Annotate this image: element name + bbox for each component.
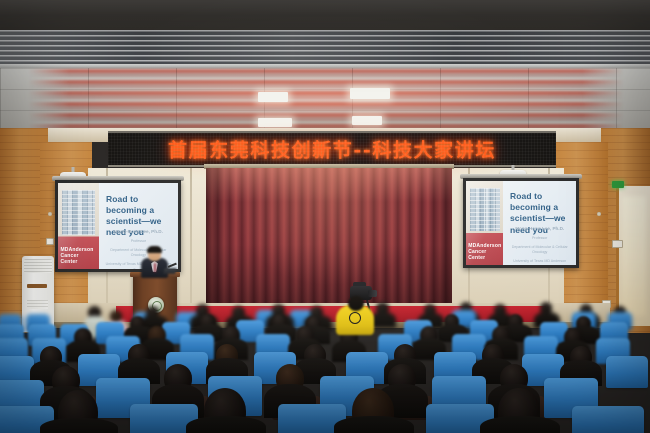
slide-logo-line2: Cancer Center (60, 253, 96, 266)
wall-seam (190, 168, 192, 316)
wall-fixture-dot (48, 212, 52, 216)
slide-author: Mong-Hong Lee, Ph.D. (104, 229, 174, 236)
led-ceiling-glow (60, 70, 590, 126)
slide-building-photo (470, 188, 500, 232)
wall-switch-panel-left[interactable] (46, 238, 54, 245)
slide-title-line1: Road to becoming a (510, 191, 569, 213)
vest-logo-icon (349, 312, 361, 324)
slide-affiliation-line2: University of Texas MD Anderson Cancer C… (508, 259, 572, 265)
slide-body-right: Road to becoming a scientist—we need you… (503, 181, 576, 265)
ceiling-slat-highlight (0, 30, 650, 66)
slide-sidebar-right: MDAnderson Cancer Center (466, 181, 503, 265)
slide-affiliation-line1: Department of Molecular & Cellular Oncol… (508, 245, 572, 256)
ceiling-light-panel (352, 116, 382, 125)
ceiling-light-panel (350, 88, 390, 99)
slide-logo-right: MDAnderson Cancer Center (468, 243, 501, 262)
slide-role: Professor (104, 239, 174, 245)
slide-author: Mong-Hong Lee, Ph.D. (508, 226, 572, 233)
audience-seating (0, 300, 650, 433)
slide-building-photo (62, 190, 95, 235)
exit-sign-icon (612, 181, 624, 188)
slide-content-right: MDAnderson Cancer Center Road to becomin… (466, 181, 576, 265)
wall-switch-panel[interactable] (612, 240, 623, 248)
podium-laptop (163, 268, 176, 274)
speaker-hair (147, 246, 162, 253)
curtain-shading (206, 168, 452, 306)
led-banner: 首届东莞科技创新节--科技大家讲坛 (108, 131, 556, 167)
camera-lens-icon (368, 290, 377, 297)
slide-building-windows (62, 190, 95, 235)
slide-body-left: Road to becoming a scientist—we need you… (99, 183, 178, 269)
camera-operator-head (348, 296, 364, 311)
ac-top-grill (24, 259, 52, 273)
ceiling-light-panel (258, 92, 288, 102)
ac-brand-label (27, 284, 47, 288)
ceiling-light-panel (258, 118, 292, 127)
slide-role: Professor (508, 236, 572, 242)
screen-surface-right: MDAnderson Cancer Center Road to becomin… (466, 181, 576, 265)
auditorium-photo: 首届东莞科技创新节--科技大家讲坛 MDAnderson Cancer Cent… (0, 0, 650, 433)
slide-building-windows (470, 188, 500, 232)
wall-fixture-dot (597, 212, 601, 216)
slide-logo-left: MDAnderson Cancer Center (60, 247, 96, 266)
speaker-tie (154, 263, 157, 272)
slide-sidebar-left: MDAnderson Cancer Center (58, 183, 99, 269)
led-pixel-grid (108, 133, 556, 165)
right-projection-screen: MDAnderson Cancer Center Road to becomin… (463, 178, 579, 268)
slide-title-line1: Road to becoming a (106, 194, 171, 216)
doorway-daylight (622, 196, 646, 316)
slide-byline-right: Mong-Hong Lee, Ph.D. Professor Departmen… (508, 226, 572, 265)
ceiling-dark-band (0, 0, 650, 34)
slide-logo-line2: Cancer Center (468, 249, 501, 262)
